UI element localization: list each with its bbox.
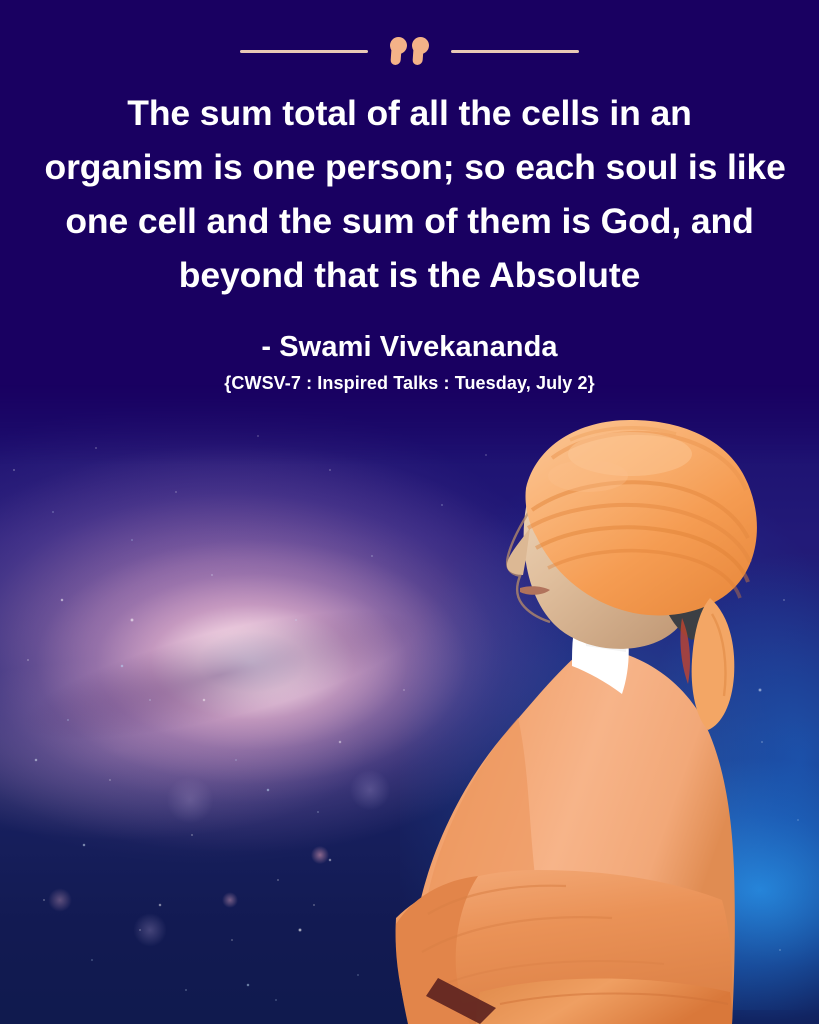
quote-citation: {CWSV-7 : Inspired Talks : Tuesday, July… [0,373,819,394]
quote-poster: The sum total of all the cells in an org… [0,0,819,1024]
quote-line-2: organism is one person; so each soul is … [45,140,775,194]
ornament-divider [0,34,819,68]
quote-mark-first [390,37,407,65]
quote-mark-second [412,37,429,65]
quote-line-3: one cell and the sum of them is God, and [45,194,775,248]
quote-line-4: beyond that is the Absolute [45,248,775,302]
divider-rule-right [451,50,579,53]
swami-vivekananda-portrait [330,418,819,1024]
double-open-quote-icon [384,37,435,65]
divider-rule-left [240,50,368,53]
quote-author: - Swami Vivekananda [0,331,819,364]
quote-line-1: The sum total of all the cells in an [45,86,775,140]
quote-panel: The sum total of all the cells in an org… [0,0,819,394]
quote-text: The sum total of all the cells in an org… [45,86,775,302]
